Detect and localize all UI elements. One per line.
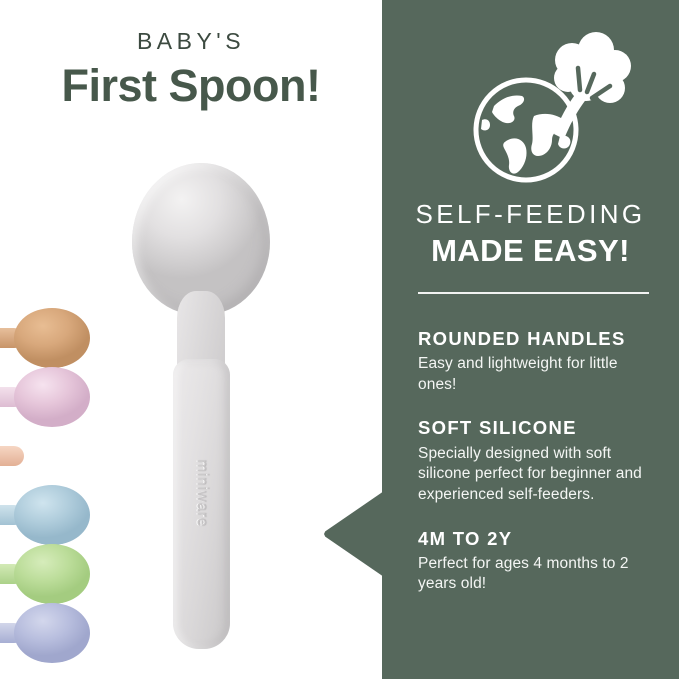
feature-item: SOFT SILICONE Specially designed with so…: [418, 417, 658, 505]
feature-item: 4M TO 2Y Perfect for ages 4 months to 2 …: [418, 528, 658, 595]
feature-body: Specially designed with soft silicone pe…: [418, 444, 658, 506]
mini-spoon-blue: [0, 485, 90, 545]
feature-item: ROUNDED HANDLES Easy and lightweight for…: [418, 328, 658, 395]
feature-list: ROUNDED HANDLES Easy and lightweight for…: [418, 328, 658, 617]
left-product-panel: BABY'S First Spoon!: [0, 0, 382, 679]
title-block: BABY'S First Spoon!: [0, 30, 382, 109]
globe-broccoli-icon: [468, 24, 638, 184]
feature-title: SOFT SILICONE: [418, 417, 658, 438]
headline-kicker: SELF-FEEDING: [382, 200, 679, 229]
feature-headline: SELF-FEEDING MADE EASY!: [382, 200, 679, 268]
spoon-handle: miniware: [173, 359, 230, 649]
headline-emphasis: MADE EASY!: [382, 234, 679, 268]
eyebrow-text: BABY'S: [0, 30, 382, 53]
feature-title: 4M TO 2Y: [418, 528, 658, 549]
page-title: First Spoon!: [0, 62, 382, 109]
mini-spoon-periwinkle: [0, 603, 90, 663]
feature-title: ROUNDED HANDLES: [418, 328, 658, 349]
divider-rule: [418, 292, 649, 294]
mini-spoon-toffee: [0, 308, 90, 368]
main-product-spoon: miniware: [132, 163, 270, 653]
mini-spoon-peach: [0, 426, 90, 486]
infographic-canvas: BABY'S First Spoon!: [0, 0, 679, 679]
feature-body: Perfect for ages 4 months to 2 years old…: [418, 554, 658, 595]
mini-spoon-pink: [0, 367, 90, 427]
mini-spoon-green: [0, 544, 90, 604]
brand-emboss-text: miniware: [194, 419, 211, 569]
feature-body: Easy and lightweight for little ones!: [418, 354, 658, 395]
